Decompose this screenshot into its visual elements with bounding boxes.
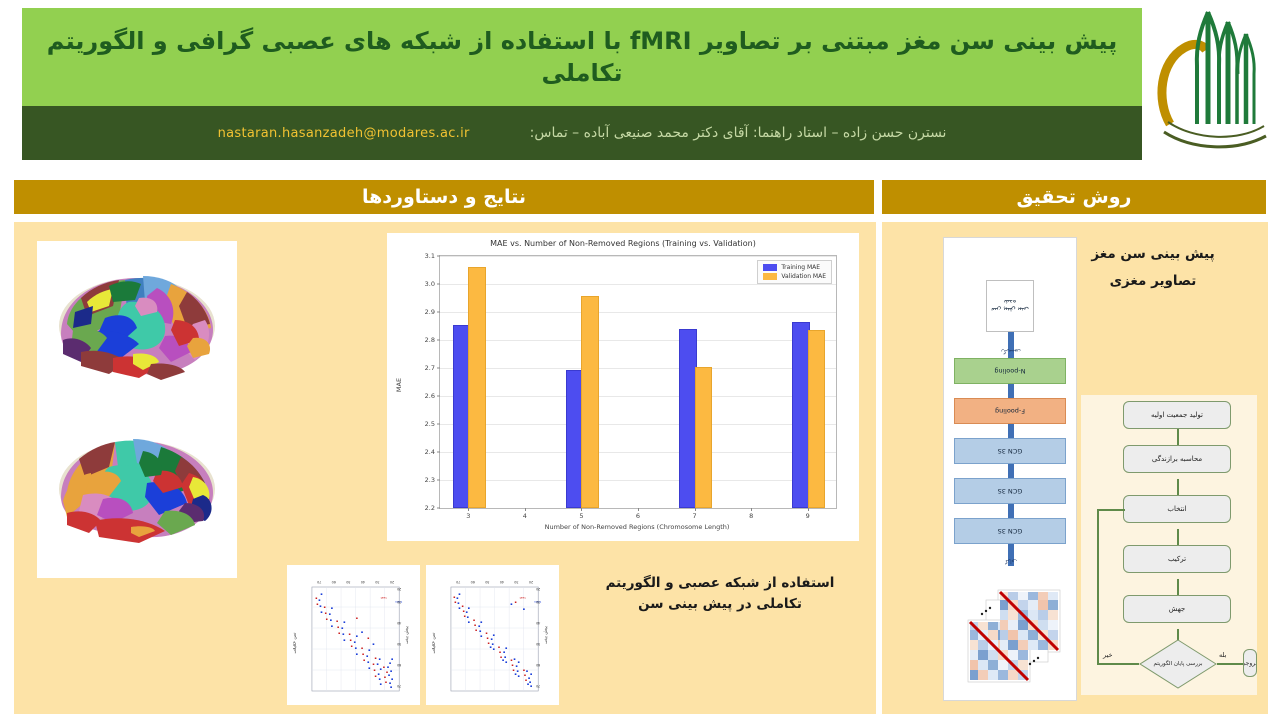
chart-x-tick-mark: [525, 508, 526, 511]
mae-bar-chart: MAE vs. Number of Non-Removed Regions (T…: [387, 233, 859, 541]
chart-y-tick-label: 2.2: [425, 504, 435, 512]
arrow-gcn-3-fpool: [1008, 424, 1014, 438]
ga-yes-label: بله: [1219, 651, 1226, 659]
chart-gridline: [440, 284, 836, 285]
svg-text:40: 40: [536, 621, 540, 625]
chart-y-tick-mark: [437, 312, 440, 313]
chart-x-tick-mark: [468, 508, 469, 511]
chart-y-tick-mark: [437, 508, 440, 509]
svg-text:20: 20: [390, 580, 394, 584]
author-supervisor-line: نسترن حسن زاده – استاد راهنما: آقای دکتر…: [530, 125, 947, 141]
f-pooling-block: F-pooling: [954, 398, 1066, 424]
results-panel: MAE vs. Number of Non-Removed Regions (T…: [14, 222, 876, 714]
ga-arrow-4: [1177, 579, 1179, 595]
validation-mae-bar-3: [468, 267, 485, 508]
ga-node-crossover: ترکیب: [1123, 545, 1231, 573]
chart-y-tick-label: 2.5: [425, 420, 435, 428]
chart-x-tick-mark: [751, 508, 752, 511]
chart-y-tick-mark: [437, 480, 440, 481]
chart-legend-item-2: Validation MAE: [763, 273, 826, 280]
chart-x-tick-mark: [808, 508, 809, 511]
section-title-results: نتایج و دستاوردها: [362, 186, 526, 208]
chart-y-tick-label: 3.1: [425, 252, 435, 260]
svg-text:30: 30: [536, 600, 540, 604]
chart-y-tick-label: 2.4: [425, 448, 435, 456]
svg-text:40: 40: [397, 621, 401, 625]
brain-lateral-view-top: [47, 258, 227, 398]
chart-y-tick-mark: [437, 452, 440, 453]
ga-arrow-3: [1177, 529, 1179, 545]
ga-arrow-2: [1177, 479, 1179, 495]
chart-x-tick-label: 7: [692, 512, 696, 520]
method-heading-line-2: تصاویر مغزی: [1053, 268, 1253, 295]
chart-y-tick-mark: [437, 368, 440, 369]
svg-text:20: 20: [529, 580, 533, 584]
section-header-method: روش تحقیق: [882, 180, 1266, 214]
tarbiat-modares-university-logo: [1150, 4, 1270, 156]
chart-y-axis-label: MAE: [395, 378, 403, 392]
svg-text:50: 50: [397, 642, 401, 646]
scatter-plot-right: train test 203040 506070 706050 403020: [287, 565, 420, 705]
ga-decision-label: بررسی پایان الگوریتم: [1147, 647, 1209, 681]
chart-title: MAE vs. Number of Non-Removed Regions (T…: [387, 239, 859, 248]
chart-y-tick-mark: [437, 256, 440, 257]
svg-text:پیش بینی: پیش بینی: [404, 626, 409, 644]
svg-text:50: 50: [485, 580, 489, 584]
validation-mae-bar-5: [581, 296, 598, 508]
svg-text:70: 70: [456, 580, 460, 584]
validation-mae-bar-9: [808, 330, 825, 508]
brain-parcellation-images: [37, 241, 237, 578]
svg-text:20: 20: [397, 587, 401, 591]
contact-email[interactable]: nastaran.hasanzadeh@modares.ac.ir: [218, 126, 470, 141]
chart-legend-label: Training MAE: [781, 264, 820, 271]
chart-x-tick-label: 6: [636, 512, 640, 520]
svg-text:60: 60: [397, 663, 401, 667]
chart-gridline: [440, 424, 836, 425]
chart-gridline: [440, 340, 836, 341]
svg-text:30: 30: [397, 600, 401, 604]
svg-text:test: test: [380, 596, 387, 600]
ga-node-fitness: محاسبه برازندگی: [1123, 445, 1231, 473]
gcn-block-2: GCN 3S: [954, 478, 1066, 504]
svg-text:30: 30: [514, 580, 518, 584]
ga-no-label: خیر: [1103, 651, 1113, 659]
arrow-fpool-npool: [1008, 384, 1014, 398]
chart-x-tick-label: 3: [466, 512, 470, 520]
chart-legend-item-1: Training MAE: [763, 264, 826, 271]
ga-no-line-v: [1097, 509, 1099, 665]
results-note-line-1: استفاده از شبکه عصبی و الگوریتم: [595, 573, 845, 594]
chart-y-tick-mark: [437, 396, 440, 397]
chart-y-tick-mark: [437, 340, 440, 341]
authors-bar: نسترن حسن زاده – استاد راهنما: آقای دکتر…: [22, 106, 1142, 160]
chart-x-tick-mark: [638, 508, 639, 511]
chart-y-tick-label: 2.3: [425, 476, 435, 484]
chart-y-tick-mark: [437, 424, 440, 425]
chart-legend: Training MAEValidation MAE: [757, 260, 832, 284]
chart-gridline: [440, 312, 836, 313]
svg-text:سن حقیقی: سن حقیقی: [292, 632, 297, 653]
legend-swatch-icon: [763, 273, 777, 280]
arrow-graph-label: گراف: [998, 558, 1024, 564]
chart-x-tick-label: 4: [523, 512, 527, 520]
svg-text:50: 50: [346, 580, 350, 584]
chart-y-tick-label: 2.8: [425, 336, 435, 344]
arrow-gcn-2-3: [1008, 464, 1014, 478]
results-note-line-2: تکاملی در پیش بینی سن: [595, 594, 845, 615]
svg-text:30: 30: [375, 580, 379, 584]
chart-x-axis-label: Number of Non-Removed Regions (Chromosom…: [439, 523, 835, 531]
method-heading-line-1: پیش بینی سن مغز: [1053, 241, 1253, 268]
chart-plot-area: 2.22.32.42.52.62.72.82.93.03.1 3456789 T…: [439, 255, 837, 509]
ga-yes-line: [1217, 663, 1245, 665]
legend-swatch-icon: [763, 264, 777, 271]
chart-gridline: [440, 480, 836, 481]
chart-x-tick-mark: [695, 508, 696, 511]
arrow-regression: [1008, 332, 1014, 358]
section-title-method: روش تحقیق: [1017, 186, 1132, 208]
scatter-plots-strip: train test 203040 506070 706050 403020: [287, 565, 559, 705]
chart-x-tick-label: 9: [806, 512, 810, 520]
method-panel: پیش بینی سن مغز تصاویر مغزی: [882, 222, 1268, 714]
chart-y-tick-mark: [437, 284, 440, 285]
svg-text:40: 40: [500, 580, 504, 584]
gcn-pipeline-diagram: گراف GCN 3S GCN 3S GCN 3S F-pooling N-po…: [943, 237, 1077, 701]
scatter-plot-left: train test 203040 506070 706050 403020: [426, 565, 559, 705]
arrow-gcn-1-2: [1008, 504, 1014, 518]
n-pooling-block: N-pooling: [954, 358, 1066, 384]
title-banner: پیش بینی سن مغز مبتنی بر تصاویر fMRI با …: [22, 8, 1142, 106]
chart-x-tick-label: 8: [749, 512, 753, 520]
chart-y-tick-label: 2.6: [425, 392, 435, 400]
chart-x-tick-mark: [581, 508, 582, 511]
correlation-matrix-stack: [958, 566, 1062, 686]
svg-text:70: 70: [317, 580, 321, 584]
svg-text:test: test: [519, 596, 526, 600]
chart-x-tick-label: 5: [579, 512, 583, 520]
results-note: استفاده از شبکه عصبی و الگوریتم تکاملی د…: [595, 573, 845, 615]
chart-y-tick-label: 3.0: [425, 280, 435, 288]
ga-node-mutation: جهش: [1123, 595, 1231, 623]
chart-gridline: [440, 256, 836, 257]
predicted-age-output: سن پیش بینی شده: [986, 280, 1034, 332]
ga-no-line-return: [1097, 509, 1125, 511]
svg-text:40: 40: [361, 580, 365, 584]
chart-gridline: [440, 368, 836, 369]
chart-gridline: [440, 396, 836, 397]
svg-text:20: 20: [536, 587, 540, 591]
poster-header: پیش بینی سن مغز مبتنی بر تصاویر fMRI با …: [0, 0, 1280, 160]
chart-y-tick-label: 2.9: [425, 308, 435, 316]
genetic-algorithm-flowchart: تولید جمعیت اولیه محاسبه برازندگی انتخاب…: [1081, 395, 1257, 695]
chart-y-tick-label: 2.7: [425, 364, 435, 372]
ga-node-selection: انتخاب: [1123, 495, 1231, 523]
ga-no-line-h: [1097, 663, 1139, 665]
svg-text:60: 60: [536, 663, 540, 667]
svg-text:70: 70: [536, 684, 540, 688]
method-heading: پیش بینی سن مغز تصاویر مغزی: [1053, 241, 1253, 295]
ga-node-initial-population: تولید جمعیت اولیه: [1123, 401, 1231, 429]
arrow-regression-label: رگرسیون: [996, 348, 1026, 354]
svg-text:سن حقیقی: سن حقیقی: [431, 632, 436, 653]
svg-text:50: 50: [536, 642, 540, 646]
ga-arrow-1: [1177, 429, 1179, 445]
svg-text:60: 60: [471, 580, 475, 584]
gcn-block-3: GCN 3S: [954, 438, 1066, 464]
gcn-block-1: GCN 3S: [954, 518, 1066, 544]
chart-gridline: [440, 452, 836, 453]
svg-text:60: 60: [332, 580, 336, 584]
brain-lateral-view-bottom: [47, 421, 227, 561]
svg-text:70: 70: [397, 684, 401, 688]
validation-mae-bar-7: [695, 367, 712, 508]
section-header-results: نتایج و دستاوردها: [14, 180, 874, 214]
svg-text:پیش بینی: پیش بینی: [543, 626, 548, 644]
page-title: پیش بینی سن مغز مبتنی بر تصاویر fMRI با …: [22, 25, 1142, 90]
chart-legend-label: Validation MAE: [781, 273, 826, 280]
ga-node-output: خروجی: [1243, 649, 1257, 677]
